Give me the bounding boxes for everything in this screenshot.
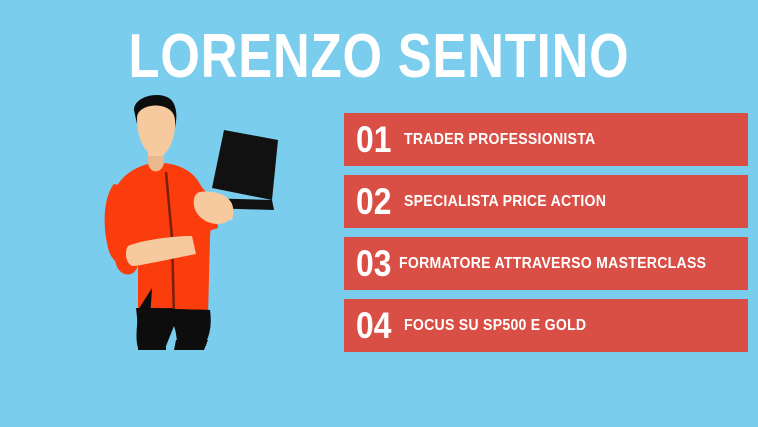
list-item[interactable]: 04 FOCUS SU SP500 E GOLD [344, 299, 748, 352]
bullet-number: 01 [356, 121, 396, 158]
bullet-label: SPECIALISTA PRICE ACTION [404, 194, 606, 210]
foot-left [138, 340, 166, 350]
bullet-label: FOCUS SU SP500 E GOLD [404, 318, 586, 334]
bullet-label: TRADER PROFESSIONISTA [404, 132, 595, 148]
foot-right [174, 340, 208, 350]
laptop-screen [212, 130, 278, 200]
bullet-label: FORMATORE ATTRAVERSO MASTERCLASS [399, 256, 706, 272]
list-item[interactable]: 03 FORMATORE ATTRAVERSO MASTERCLASS [344, 237, 748, 290]
list-item[interactable]: 01 TRADER PROFESSIONISTA [344, 113, 748, 166]
list-item[interactable]: 02 SPECIALISTA PRICE ACTION [344, 175, 748, 228]
bullet-number: 04 [356, 307, 396, 344]
bullet-number: 03 [356, 245, 391, 282]
illustration-svg [96, 88, 296, 358]
page-title: LORENZO SENTINO [68, 26, 690, 88]
man-holding-laptop-illustration [96, 88, 296, 358]
slide-canvas: LORENZO SENTINO [0, 0, 758, 427]
bullet-number: 02 [356, 183, 396, 220]
bullet-list: 01 TRADER PROFESSIONISTA 02 SPECIALISTA … [344, 113, 748, 361]
